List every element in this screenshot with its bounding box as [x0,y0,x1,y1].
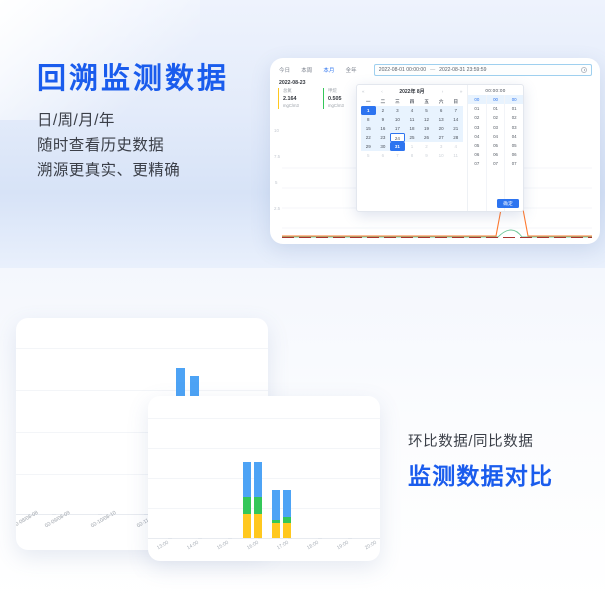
x-tick [98,514,102,515]
page-title: 回溯监测数据 [37,62,287,97]
confirm-button[interactable]: 确定 [497,199,519,208]
x-label: 16:00 [246,540,260,551]
calendar-day[interactable]: 18 [405,124,420,133]
calendar-weekday: 一 [361,97,376,106]
x-tick [318,538,322,539]
time-option[interactable]: 02 [468,113,486,122]
calendar-day[interactable]: 2 [376,106,391,115]
stacked-bar[interactable] [272,490,280,538]
next-month-icon[interactable]: › [442,89,443,94]
calendar-day-grid[interactable]: 1234567891011121314151617181920212223242… [361,106,463,160]
prev-month-icon[interactable]: ‹ [381,89,382,94]
calendar-day[interactable]: 4 [405,106,420,115]
calendar-day[interactable]: 15 [361,124,376,133]
x-label: 02-08/08-08 [16,510,39,529]
calendar-day[interactable]: 20 [434,124,449,133]
headline-line-2: 随时查看历史数据 [37,133,287,158]
x-label: 02-09/08-09 [44,510,71,529]
metric-label: 甲烷 [328,88,355,95]
calendar-day[interactable]: 3 [390,106,405,115]
gridline [148,478,380,479]
x-tick [348,538,352,539]
calendar-pane: « ‹ 2022年 8月 › » 一二三四五六日 123456789101112… [357,85,467,211]
bar-segment-yellow [243,514,251,538]
calendar-day[interactable]: 5 [419,106,434,115]
calendar-weekday: 二 [376,97,391,106]
time-option[interactable]: 01 [468,104,486,113]
calendar-day[interactable]: 11 [405,115,420,124]
tagline-block: 环比数据/同比数据 监测数据对比 [408,430,598,491]
calendar-weekday: 三 [390,97,405,106]
time-option[interactable]: 06 [505,150,523,159]
headline-line-1: 日/周/月/年 [37,108,287,133]
x-label: 20:00 [364,540,378,551]
calendar-day[interactable]: 10 [434,151,449,160]
x-label: 15:00 [216,540,230,551]
calendar-day[interactable]: 9 [376,115,391,124]
bar-segment-yellow [254,514,262,538]
bar-segment-blue [272,490,280,520]
calendar-day[interactable]: 10 [390,115,405,124]
calendar-day[interactable]: 27 [434,133,449,142]
x-tick [198,538,202,539]
metric-card: 总氮 2.164 mgC/m3 [278,88,310,109]
dashboard-card: 今日 本周 本月 全年 2022-08-01 00:00:00 — 2022-0… [270,58,600,244]
time-column-minutes[interactable]: 0001020304050607 [486,95,505,211]
calendar-day[interactable]: 5 [361,151,376,160]
calendar-day[interactable]: 23 [376,133,391,142]
x-label: 14:00 [186,540,200,551]
time-option[interactable]: 02 [505,113,523,122]
time-option[interactable]: 00 [505,95,523,104]
range-start-value: 2022-08-01 00:00:00 [379,67,426,73]
calendar-day[interactable]: 31 [390,142,405,151]
time-option[interactable]: 07 [468,159,486,168]
calendar-day[interactable]: 24 [390,133,405,142]
calendar-day[interactable]: 11 [448,151,463,160]
calendar-day[interactable]: 6 [376,151,391,160]
time-option[interactable]: 04 [505,132,523,141]
calendar-weekday-row: 一二三四五六日 [361,97,463,106]
calendar-weekday: 四 [405,97,420,106]
time-option[interactable]: 03 [468,123,486,132]
tab-today[interactable]: 今日 [278,65,291,75]
calendar-day[interactable]: 4 [448,142,463,151]
calendar-day[interactable]: 26 [419,133,434,142]
time-option[interactable]: 05 [487,141,505,150]
time-option[interactable]: 01 [505,104,523,113]
y-tick-10: 10 [274,128,279,133]
next-year-icon[interactable]: » [460,89,462,94]
calendar-day[interactable]: 3 [434,142,449,151]
calendar-day[interactable]: 25 [405,133,420,142]
calendar-day[interactable]: 2 [419,142,434,151]
y-tick-7-5: 7.5 [274,154,280,159]
bar-segment-blue [283,490,291,517]
x-axis-line [148,538,380,539]
time-title: 00:00:00 [468,85,523,95]
headline-subtext: 日/周/月/年 随时查看历史数据 溯源更真实、更精确 [37,108,287,183]
time-option[interactable]: 00 [468,95,486,104]
stacked-bar[interactable] [283,490,291,538]
calendar-day[interactable]: 22 [361,133,376,142]
tagline-title: 监测数据对比 [408,457,598,491]
x-tick [168,538,172,539]
range-separator: — [430,67,435,73]
calendar-day[interactable]: 16 [376,124,391,133]
calendar-day[interactable]: 30 [376,142,391,151]
picker-footer: 确定 [497,199,519,208]
time-column-seconds[interactable]: 0001020304050607 [504,95,523,211]
calendar-day[interactable]: 8 [405,151,420,160]
range-end-value: 2022-08-31 23:59:59 [439,67,486,73]
tab-this-week[interactable]: 本周 [300,65,313,75]
time-option[interactable]: 07 [505,159,523,168]
stacked-bar[interactable] [254,462,262,538]
calendar-day[interactable]: 13 [434,115,449,124]
calendar-day[interactable]: 14 [448,115,463,124]
time-option[interactable]: 04 [468,132,486,141]
metric-unit: mgC/m3 [283,103,310,109]
metric-label: 总氮 [283,88,310,95]
calendar-day[interactable]: 7 [448,106,463,115]
x-label: 19:00 [336,540,350,551]
time-option[interactable]: 06 [487,150,505,159]
gridline [148,448,380,449]
dashboard-toolbar: 今日 本周 本月 全年 2022-08-01 00:00:00 — 2022-0… [270,58,600,79]
x-tick [258,538,262,539]
calendar-day[interactable]: 29 [361,142,376,151]
calendar-day[interactable]: 6 [434,106,449,115]
calendar-day[interactable]: 28 [448,133,463,142]
time-option[interactable]: 02 [487,113,505,122]
calendar-weekday: 六 [434,97,449,106]
clock-icon [581,67,587,73]
x-label: 13:00 [156,540,170,551]
bar-segment-blue [254,462,262,497]
headline-block: 回溯监测数据 日/周/月/年 随时查看历史数据 溯源更真实、更精确 [37,62,287,183]
tagline-subtitle: 环比数据/同比数据 [408,430,598,451]
calendar-day[interactable]: 8 [361,115,376,124]
tab-this-month[interactable]: 本月 [322,65,335,75]
stacked-bar[interactable] [243,462,251,538]
time-column-hours[interactable]: 0001020304050607 [468,95,486,211]
bar-segment-green [243,497,251,514]
metric-card: 甲烷 0.505 mgC/m3 [323,88,355,109]
x-tick [288,538,292,539]
time-option[interactable]: 05 [468,141,486,150]
metric-unit: mgC/m3 [328,103,355,109]
gridline [148,418,380,419]
x-label: 18:00 [306,540,320,551]
bar-segment-yellow [272,523,280,538]
x-tick [228,538,232,539]
x-label: 02-10/08-10 [90,510,117,529]
time-option[interactable]: 01 [487,104,505,113]
bar-segment-yellow [283,523,291,538]
time-pane: 00:00:00 0001020304050607 00010203040506… [467,85,523,211]
calendar-day[interactable]: 1 [361,106,376,115]
headline-line-3: 溯源更真实、更精确 [37,158,287,183]
x-label: 17:00 [276,540,290,551]
tab-full-year[interactable]: 全年 [345,65,358,75]
calendar-day[interactable]: 17 [390,124,405,133]
time-option[interactable]: 06 [468,150,486,159]
time-option[interactable]: 00 [487,95,505,104]
x-tick [52,514,56,515]
prev-year-icon[interactable]: « [362,89,364,94]
time-option[interactable]: 03 [505,123,523,132]
time-option[interactable]: 03 [487,123,505,132]
date-picker-popup[interactable]: « ‹ 2022年 8月 › » 一二三四五六日 123456789101112… [356,84,524,212]
calendar-day[interactable]: 7 [390,151,405,160]
bar-segment-green [254,497,262,514]
metric-value: 0.505 [328,95,355,103]
compare-chart-card-front: 13:00 14:00 15:00 16:00 17:00 18:00 19:0… [148,396,380,561]
calendar-day[interactable]: 12 [419,115,434,124]
gridline [16,348,268,349]
time-option[interactable]: 04 [487,132,505,141]
calendar-day[interactable]: 19 [419,124,434,133]
bar-segment-blue [243,462,251,497]
calendar-header: « ‹ 2022年 8月 › » [361,88,463,97]
gridline [148,508,380,509]
calendar-day[interactable]: 9 [419,151,434,160]
calendar-day[interactable]: 21 [448,124,463,133]
calendar-title: 2022年 8月 [399,88,424,95]
metric-value: 2.164 [283,95,310,103]
calendar-day[interactable]: 1 [405,142,420,151]
time-columns: 0001020304050607 0001020304050607 000102… [468,95,523,211]
time-option[interactable]: 07 [487,159,505,168]
date-range-input[interactable]: 2022-08-01 00:00:00 — 2022-08-31 23:59:5… [374,64,592,76]
gridline [16,390,268,391]
calendar-weekday: 日 [448,97,463,106]
calendar-weekday: 五 [419,97,434,106]
time-option[interactable]: 05 [505,141,523,150]
